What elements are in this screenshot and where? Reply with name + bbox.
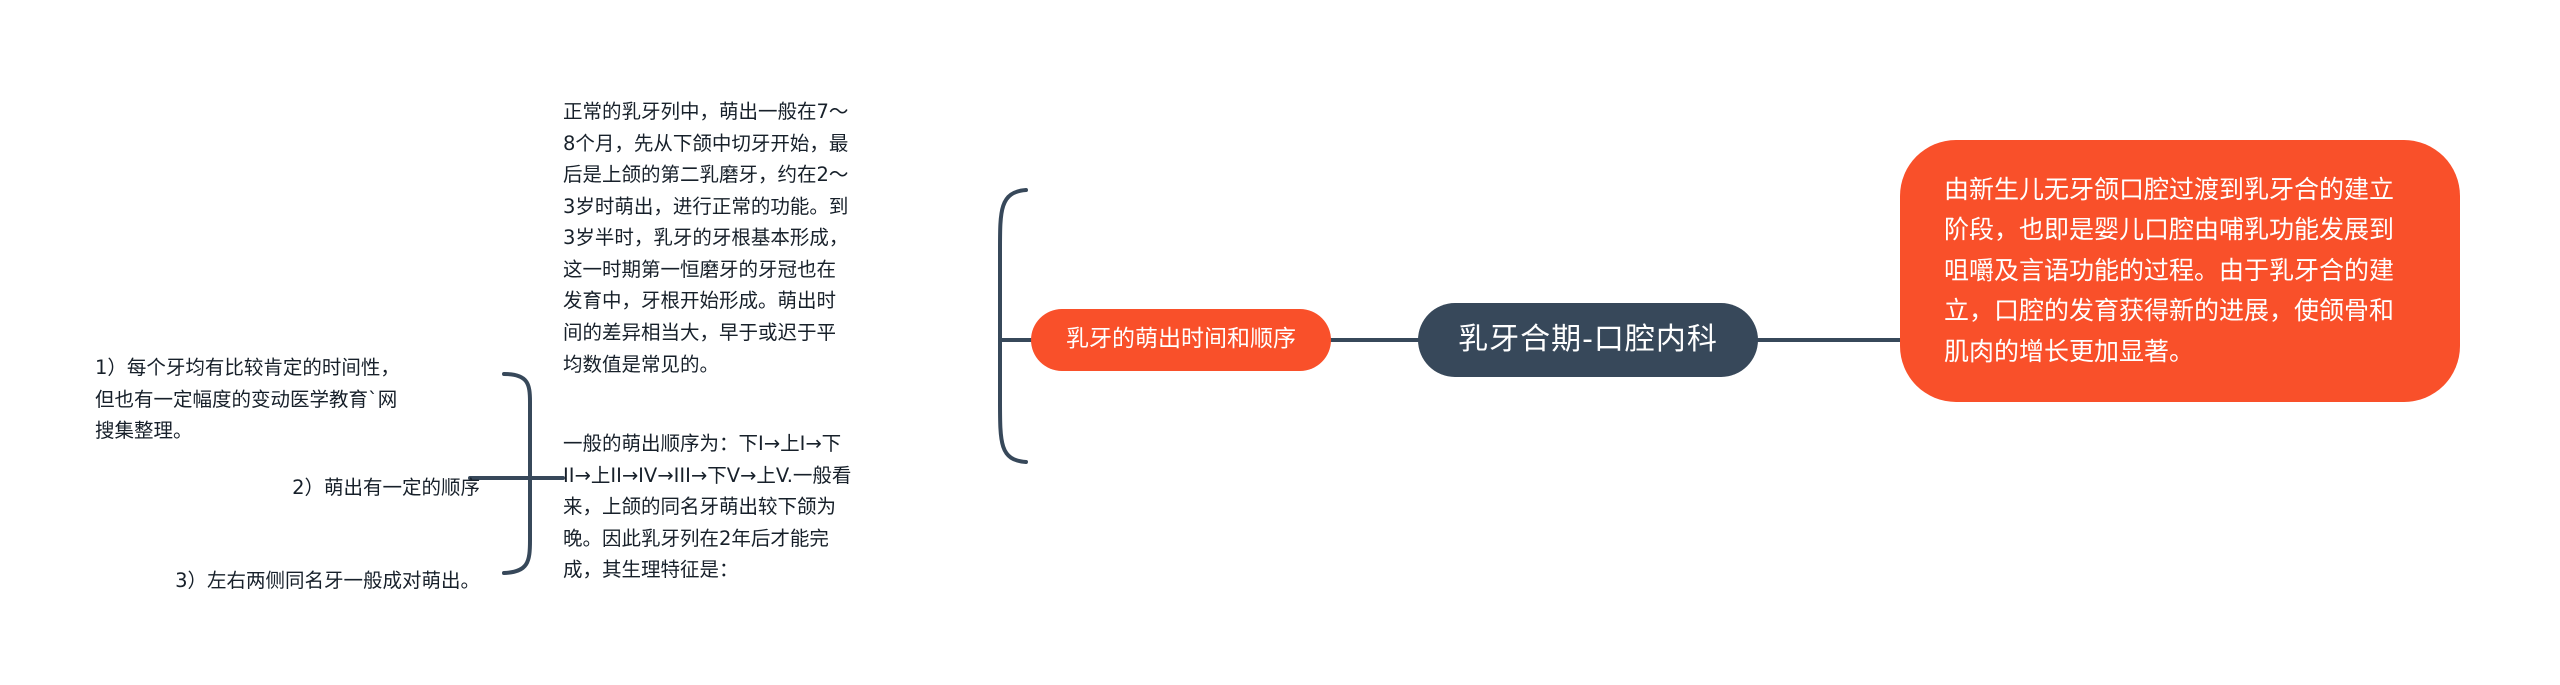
central-node[interactable]: 乳牙合期-口腔内科: [1418, 303, 1758, 377]
branch-node-eruption[interactable]: 乳牙的萌出时间和顺序: [1031, 309, 1331, 371]
branch-node-label: 乳牙的萌出时间和顺序: [1066, 326, 1296, 354]
detail-panel-text: 由新生儿无牙颌口腔过渡到乳牙合的建立阶段，也即是婴儿口腔由哺乳功能发展到咀嚼及言…: [1944, 170, 2416, 373]
feature-item-2: 2）萌出有一定的顺序: [95, 472, 480, 504]
central-node-label: 乳牙合期-口腔内科: [1458, 322, 1718, 358]
note-eruption-time: 正常的乳牙列中，萌出一般在7～8个月，先从下颌中切牙开始，最后是上颌的第二乳磨牙…: [563, 96, 853, 380]
brace-branch-group: [1000, 190, 1026, 462]
note-eruption-order: 一般的萌出顺序为：下I→上I→下II→上II→IV→III→下V→上V.一般看来…: [563, 428, 853, 586]
detail-panel-primary-dentition[interactable]: 由新生儿无牙颌口腔过渡到乳牙合的建立阶段，也即是婴儿口腔由哺乳功能发展到咀嚼及言…: [1900, 140, 2460, 402]
mindmap-canvas: 乳牙合期-口腔内科 乳牙的萌出时间和顺序 由新生儿无牙颌口腔过渡到乳牙合的建立阶…: [0, 0, 2560, 685]
bracket-features-group: [504, 374, 530, 573]
feature-item-1: 1）每个牙均有比较肯定的时间性，但也有一定幅度的变动医学教育`网搜集整理。: [95, 352, 405, 447]
feature-item-3: 3）左右两侧同名牙一般成对萌出。: [95, 565, 480, 597]
